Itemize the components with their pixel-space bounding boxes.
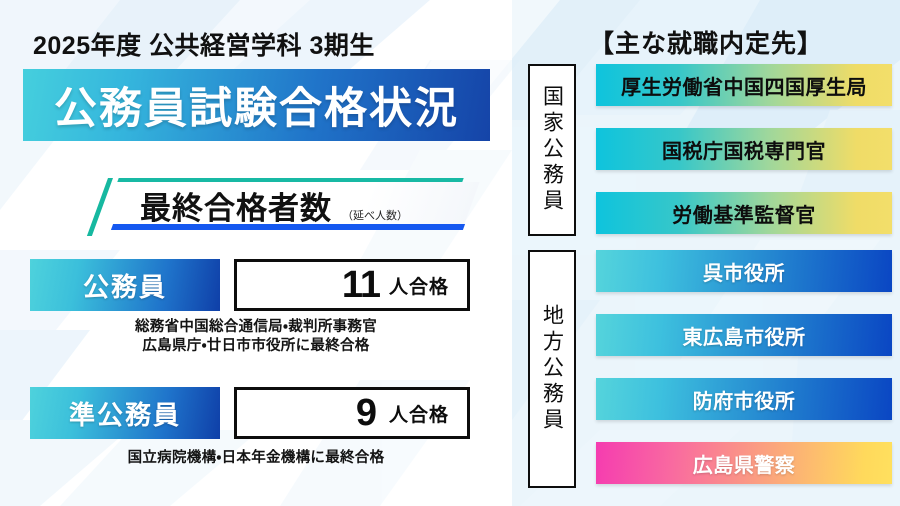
subheading-text-row: 最終合格者数 （延べ人数） bbox=[140, 183, 470, 223]
employer-bar-label: 防府市役所 bbox=[693, 385, 796, 414]
detail-note-komuin: 総務省中国総合通信局・裁判所事務官 広島県庁・廿日市市役所に最終合格 bbox=[0, 318, 512, 357]
result-row: 公務員 11 人合格 bbox=[30, 259, 470, 311]
count-box-jun-komuin: 9 人合格 bbox=[234, 387, 470, 439]
category-badge-label: 準公務員 bbox=[69, 395, 181, 432]
count-unit-label: 人合格 bbox=[389, 400, 449, 427]
subheading-banner: 最終合格者数 （延べ人数） bbox=[100, 178, 472, 240]
left-column: 2025年度 公共経営学科 3期生 公務員試験合格状況 最終合格者数 （延べ人数… bbox=[0, 0, 512, 506]
count-number: 9 bbox=[356, 394, 376, 432]
group-vertical-label-local: 地方公務員 bbox=[528, 250, 576, 488]
count-unit-label: 人合格 bbox=[389, 272, 449, 299]
employer-bar[interactable]: 呉市役所 bbox=[596, 250, 892, 292]
category-badge-jun-komuin: 準公務員 bbox=[30, 387, 220, 439]
category-badge-label: 公務員 bbox=[83, 267, 167, 304]
employers-heading: 【主な就職内定先】 bbox=[512, 24, 900, 60]
employer-bar-label: 広島県警察 bbox=[693, 449, 796, 478]
title-banner: 公務員試験合格状況 bbox=[23, 69, 490, 141]
employer-bar[interactable]: 労働基準監督官 bbox=[596, 192, 892, 234]
kicker-text: 2025年度 公共経営学科 3期生 bbox=[33, 26, 375, 62]
employer-bar-label: 呉市役所 bbox=[703, 257, 785, 286]
employer-bar[interactable]: 東広島市役所 bbox=[596, 314, 892, 356]
category-badge-komuin: 公務員 bbox=[30, 259, 220, 311]
title-banner-label: 公務員試験合格状況 bbox=[54, 74, 459, 136]
result-row: 準公務員 9 人合格 bbox=[30, 387, 470, 439]
employer-bar-list: 呉市役所 東広島市役所 防府市役所 広島県警察 bbox=[596, 250, 892, 484]
subheading-main-label: 最終合格者数 bbox=[140, 183, 332, 228]
employer-bar-label: 労働基準監督官 bbox=[672, 199, 816, 228]
subheading-note-label: （延べ人数） bbox=[342, 207, 408, 223]
detail-note-jun-komuin: 国立病院機構・日本年金機構に最終合格 bbox=[0, 449, 512, 468]
group-vertical-label-text: 地方公務員 bbox=[542, 304, 563, 434]
employer-bar-label: 国税庁国税専門官 bbox=[662, 135, 826, 164]
employer-bar[interactable]: 国税庁国税専門官 bbox=[596, 128, 892, 170]
employer-bar[interactable]: 厚生労働省中国四国厚生局 bbox=[596, 64, 892, 106]
employer-bar-list: 厚生労働省中国四国厚生局 国税庁国税専門官 労働基準監督官 bbox=[596, 64, 892, 234]
count-box-komuin: 11 人合格 bbox=[234, 259, 470, 311]
employer-bar-label: 東広島市役所 bbox=[683, 321, 806, 350]
employer-bar[interactable]: 防府市役所 bbox=[596, 378, 892, 420]
group-vertical-label-text: 国家公務員 bbox=[542, 85, 563, 215]
employer-group-national: 国家公務員 厚生労働省中国四国厚生局 国税庁国税専門官 労働基準監督官 bbox=[512, 64, 900, 236]
employer-bar[interactable]: 広島県警察 bbox=[596, 442, 892, 484]
employer-bar-label: 厚生労働省中国四国厚生局 bbox=[621, 71, 867, 100]
group-vertical-label-national: 国家公務員 bbox=[528, 64, 576, 236]
right-column: 【主な就職内定先】 国家公務員 厚生労働省中国四国厚生局 国税庁国税専門官 労働… bbox=[512, 0, 900, 506]
count-number: 11 bbox=[342, 266, 380, 304]
infographic-slide: 2025年度 公共経営学科 3期生 公務員試験合格状況 最終合格者数 （延べ人数… bbox=[0, 0, 900, 506]
employer-group-local: 地方公務員 呉市役所 東広島市役所 防府市役所 広島県警察 bbox=[512, 250, 900, 488]
